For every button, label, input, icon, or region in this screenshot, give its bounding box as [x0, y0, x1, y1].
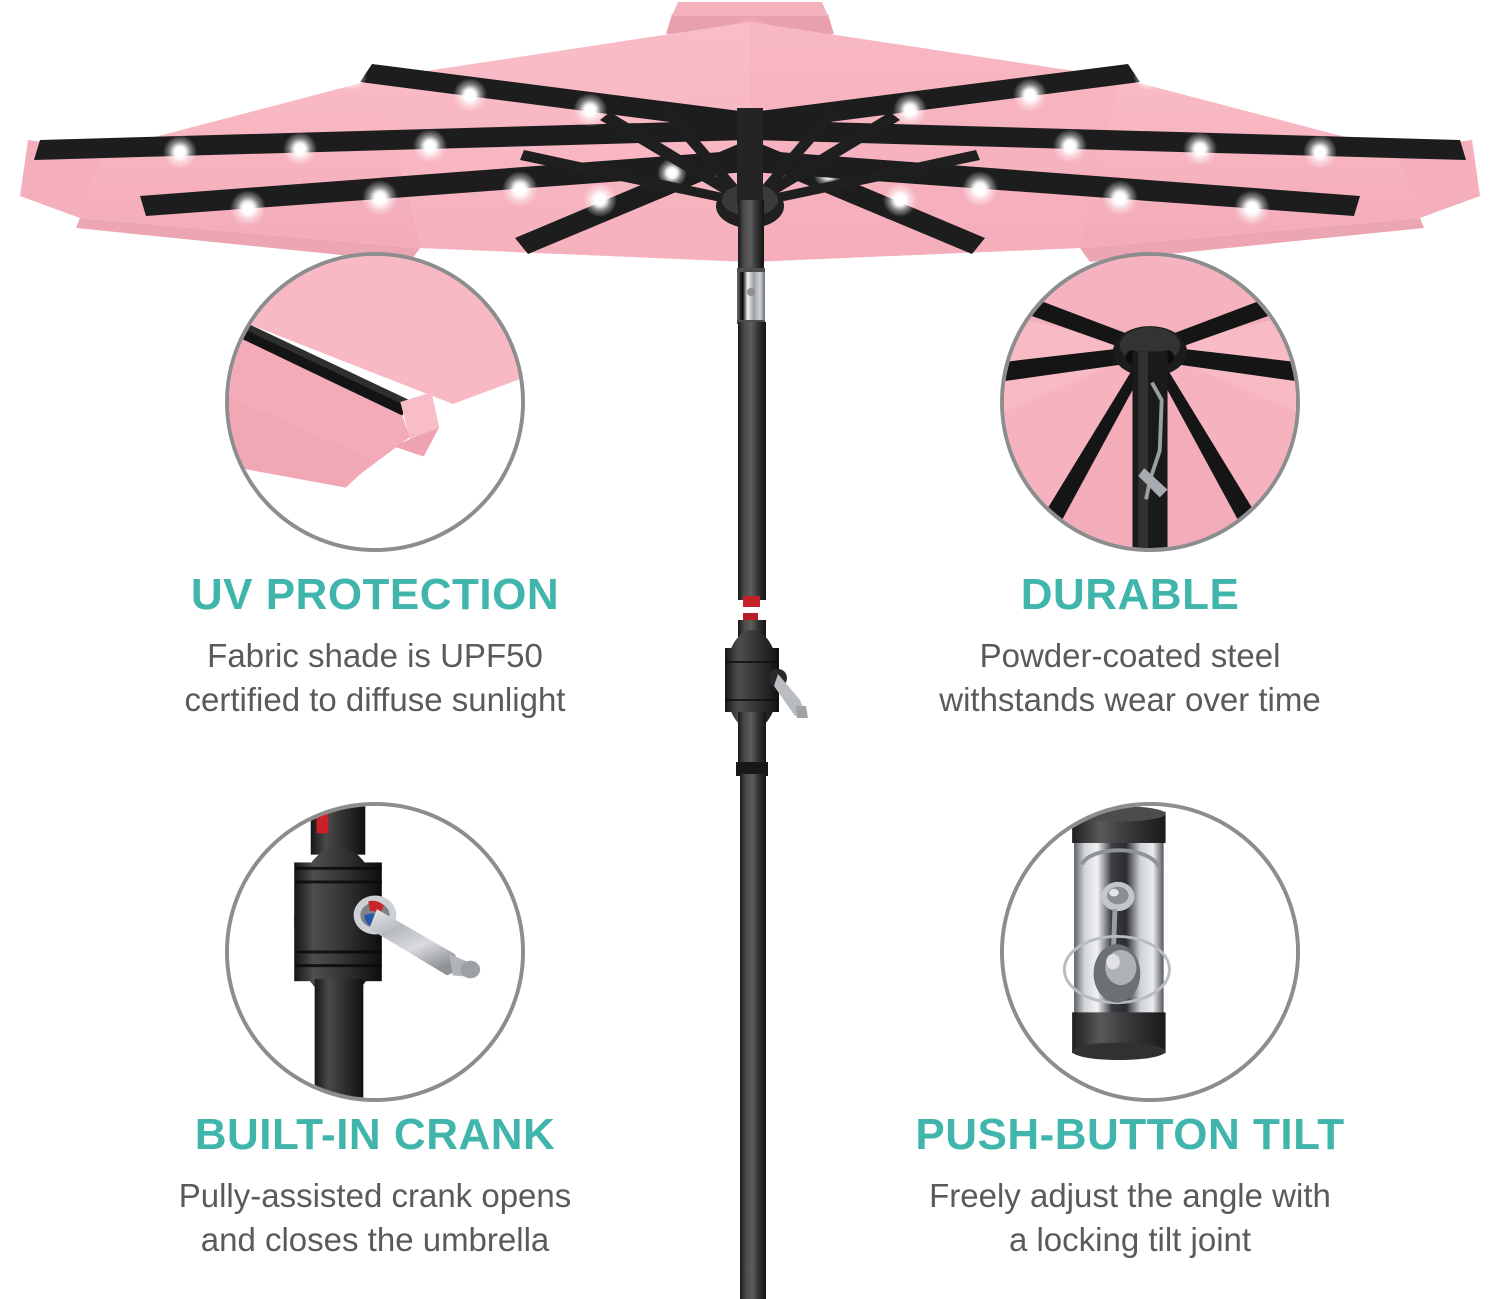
led-light	[230, 190, 266, 226]
led-light	[1053, 129, 1087, 163]
rib-right-inner	[752, 140, 985, 254]
rib-right-outer	[752, 120, 1466, 169]
rib-left-mid	[140, 150, 748, 226]
led-light	[883, 183, 917, 217]
led-light	[905, 105, 915, 115]
led-light	[595, 195, 605, 205]
infographic-canvas: UV PROTECTION Fabric shade is UPF50 cert…	[0, 0, 1500, 1299]
rib-right-mid	[752, 150, 1360, 226]
rib-left-upper	[337, 61, 748, 132]
led-light	[1195, 144, 1205, 154]
feature-block-built-in-crank: BUILT-IN CRANK Pully-assisted crank open…	[55, 1112, 695, 1262]
led-light	[502, 171, 538, 207]
feature-body-line: a locking tilt joint	[810, 1218, 1450, 1262]
feature-block-durable: DURABLE Powder-coated steel withstands w…	[810, 572, 1450, 722]
feature-body-line: and closes the umbrella	[55, 1218, 695, 1262]
callout-fabric-edge-detail	[225, 252, 525, 552]
led-light	[1013, 78, 1047, 112]
led-light	[1133, 61, 1163, 91]
crank-pivot	[769, 669, 787, 687]
led-light	[1115, 193, 1125, 203]
canopy-fabric	[20, 2, 1480, 262]
callout-tilt-joint-detail	[1000, 802, 1300, 1102]
led-light	[1183, 132, 1217, 166]
canopy-ribs-and-leds	[34, 61, 1466, 254]
support-struts	[520, 106, 980, 208]
led-light	[1303, 135, 1337, 169]
led-light	[1315, 147, 1325, 157]
led-light	[573, 93, 607, 127]
led-light	[348, 72, 356, 80]
pole-label-lower	[743, 613, 758, 623]
feature-body-line: certified to diffuse sunlight	[55, 678, 695, 722]
led-light	[1102, 180, 1138, 216]
led-light	[453, 78, 487, 112]
led-light	[668, 169, 676, 177]
led-light	[362, 180, 398, 216]
led-light	[583, 183, 617, 217]
hub-pole	[1132, 351, 1167, 548]
led-light	[893, 93, 927, 127]
led-light	[1144, 72, 1152, 80]
feature-body-durable: Powder-coated steel withstands wear over…	[810, 634, 1450, 722]
led-light	[243, 203, 253, 213]
crank-knob	[461, 961, 480, 979]
feature-body-line: Powder-coated steel	[810, 634, 1450, 678]
led-light	[975, 184, 985, 194]
canopy-hub	[716, 184, 784, 228]
warning-sticker	[317, 812, 329, 833]
led-light	[337, 61, 367, 91]
hub-ribs-detail-image	[1004, 256, 1296, 548]
led-light	[824, 169, 832, 177]
led-light	[283, 132, 317, 166]
crank-detail-image	[229, 806, 521, 1098]
feature-heading-uv-protection: UV PROTECTION	[55, 572, 695, 618]
feature-heading-push-button-tilt: PUSH-BUTTON TILT	[810, 1112, 1450, 1158]
feature-body-line: Freely adjust the angle with	[810, 1174, 1450, 1218]
led-light	[1234, 190, 1270, 226]
feature-block-uv-protection: UV PROTECTION Fabric shade is UPF50 cert…	[55, 572, 695, 722]
led-light	[1247, 203, 1257, 213]
led-light	[962, 171, 998, 207]
feature-body-line: Pully-assisted crank opens	[55, 1174, 695, 1218]
led-light	[465, 90, 475, 100]
led-light	[515, 184, 525, 194]
tilt-joint-detail-image	[1004, 806, 1296, 1098]
feature-heading-built-in-crank: BUILT-IN CRANK	[55, 1112, 695, 1158]
feature-body-line: withstands wear over time	[810, 678, 1450, 722]
rib-right-upper	[752, 61, 1163, 132]
feature-body-uv-protection: Fabric shade is UPF50 certified to diffu…	[55, 634, 695, 722]
pole-collar	[736, 762, 768, 776]
led-light	[657, 158, 687, 188]
lower-pole	[740, 774, 766, 1299]
crank-handle	[774, 674, 806, 716]
led-light	[163, 135, 197, 169]
feature-body-push-button-tilt: Freely adjust the angle with a locking t…	[810, 1174, 1450, 1262]
callout-hub-ribs-detail	[1000, 252, 1300, 552]
led-light	[585, 105, 595, 115]
rib-left-inner	[515, 140, 748, 254]
led-light	[895, 195, 905, 205]
feature-body-line: Fabric shade is UPF50	[55, 634, 695, 678]
led-light	[425, 141, 435, 151]
crank-housing	[725, 630, 808, 730]
led-light	[813, 158, 843, 188]
feature-heading-durable: DURABLE	[810, 572, 1450, 618]
pole-label-upper	[743, 596, 760, 607]
feature-body-built-in-crank: Pully-assisted crank opens and closes th…	[55, 1174, 695, 1262]
led-light	[1065, 141, 1075, 151]
umbrella-pole	[725, 200, 808, 1299]
led-light	[1025, 90, 1035, 100]
feature-block-push-button-tilt: PUSH-BUTTON TILT Freely adjust the angle…	[810, 1112, 1450, 1262]
led-light	[175, 147, 185, 157]
rib-left-outer	[34, 120, 748, 169]
callout-crank-detail	[225, 802, 525, 1102]
crank-pole-lower	[315, 979, 364, 1098]
led-light	[375, 193, 385, 203]
led-light	[295, 144, 305, 154]
tilt-joint	[737, 268, 765, 324]
led-light	[413, 129, 447, 163]
fabric-edge-detail-image	[229, 256, 521, 548]
